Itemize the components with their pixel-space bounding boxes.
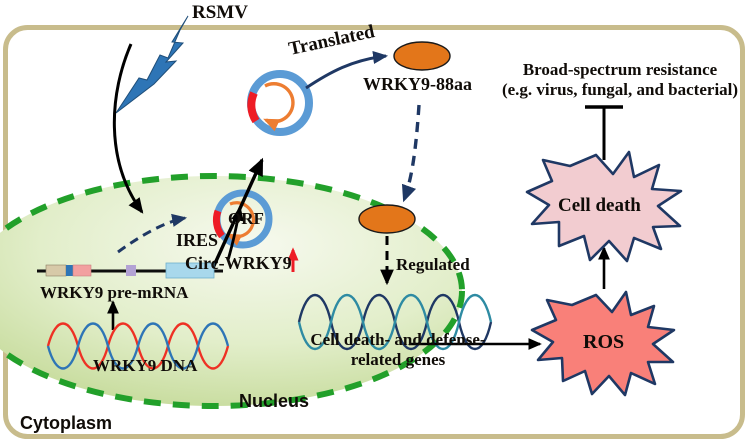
label-regulated: Regulated	[396, 255, 470, 274]
label-ires: IRES	[176, 230, 218, 250]
label-cytoplasm: Cytoplasm	[20, 413, 112, 433]
label-orf: ORF	[228, 209, 264, 228]
label-cell-death: Cell death	[558, 195, 641, 216]
protein-wrky9-88aa-cytoplasm	[394, 42, 450, 70]
label-target-genes-line2: related genes	[283, 350, 513, 369]
label-broad-spectrum-resistance-line1: Broad-spectrum resistance	[500, 60, 740, 79]
figure-canvas: RSMV Translated WRKY9-88aa Broad-spectru…	[0, 0, 748, 442]
label-target-genes-line1: Cell death- and defense-	[283, 330, 513, 349]
label-circ-wrky9: Circ-WRKY9	[185, 253, 292, 273]
label-wrky9-dna: WRKY9 DNA	[93, 356, 197, 375]
label-rsmv: RSMV	[192, 2, 248, 23]
label-nucleus: Nucleus	[239, 391, 309, 411]
protein-wrky9-88aa-nucleus	[359, 205, 415, 233]
label-wrky9-88aa: WRKY9-88aa	[363, 74, 472, 94]
label-broad-spectrum-resistance-line2: (e.g. virus, fungal, and bacterial)	[490, 80, 748, 99]
label-ros: ROS	[583, 331, 624, 353]
label-pre-mrna: WRKY9 pre-mRNA	[40, 283, 188, 302]
